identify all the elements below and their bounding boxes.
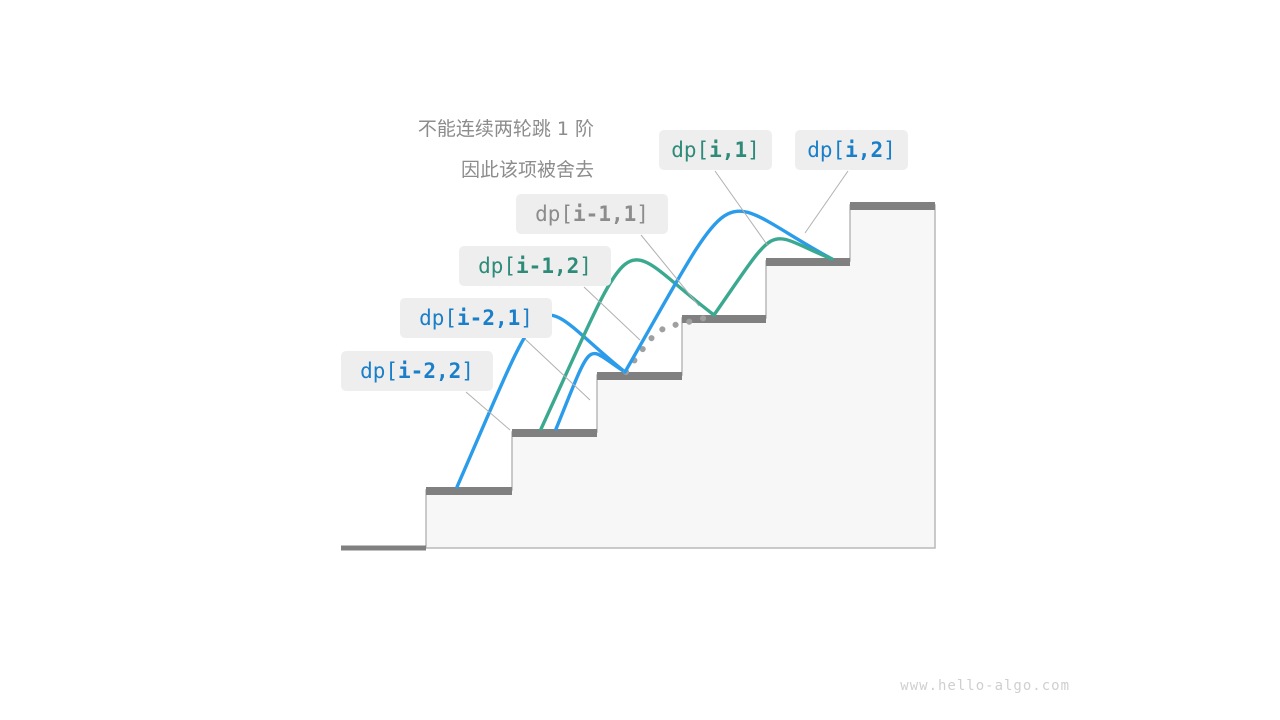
step-6-tread: [850, 202, 935, 210]
step-5-tread: [766, 258, 850, 266]
label-dp-i-1-2[interactable]: dp[i-1,2]: [459, 246, 611, 286]
step-3-tread: [597, 372, 682, 380]
annotation-note: 不能连续两轮跳 1 阶 因此该项被舍去: [418, 118, 594, 181]
label-dp-i-1-2-text: dp[i-1,2]: [478, 254, 592, 278]
label-dp-i-2-1[interactable]: dp[i-2,1]: [400, 298, 552, 338]
diagram-canvas: 不能连续两轮跳 1 阶 因此该项被舍去 dp[i-2,2]dp[i-2,1]dp…: [0, 0, 1280, 720]
stair-climbing-dp-diagram: 不能连续两轮跳 1 阶 因此该项被舍去 dp[i-2,2]dp[i-2,1]dp…: [0, 0, 1280, 720]
leader-dp-i-2: [805, 171, 848, 233]
label-dp-i-2-2-text: dp[i-2,2]: [360, 359, 474, 383]
label-dp-i-2-1-text: dp[i-2,1]: [419, 306, 533, 330]
label-dp-i-1[interactable]: dp[i,1]: [659, 130, 772, 170]
leader-dp-i-1: [715, 171, 768, 246]
label-dp-i-1-1[interactable]: dp[i-1,1]: [516, 194, 668, 234]
site-watermark: www.hello-algo.com: [900, 678, 1070, 694]
annotation-line-1: 不能连续两轮跳 1 阶: [418, 118, 594, 140]
leader-dp-i-2-2: [466, 392, 510, 430]
label-dp-i-2[interactable]: dp[i,2]: [795, 130, 908, 170]
label-dp-i-2-2[interactable]: dp[i-2,2]: [341, 351, 493, 391]
annotation-line-2: 因此该项被舍去: [461, 159, 594, 181]
label-dp-i-1-1-text: dp[i-1,1]: [535, 202, 649, 226]
step-1-tread: [426, 487, 512, 495]
step-4-tread: [682, 315, 766, 323]
label-dp-i-2-text: dp[i,2]: [807, 138, 896, 162]
step-2-tread: [512, 429, 597, 437]
label-dp-i-1-text: dp[i,1]: [671, 138, 760, 162]
